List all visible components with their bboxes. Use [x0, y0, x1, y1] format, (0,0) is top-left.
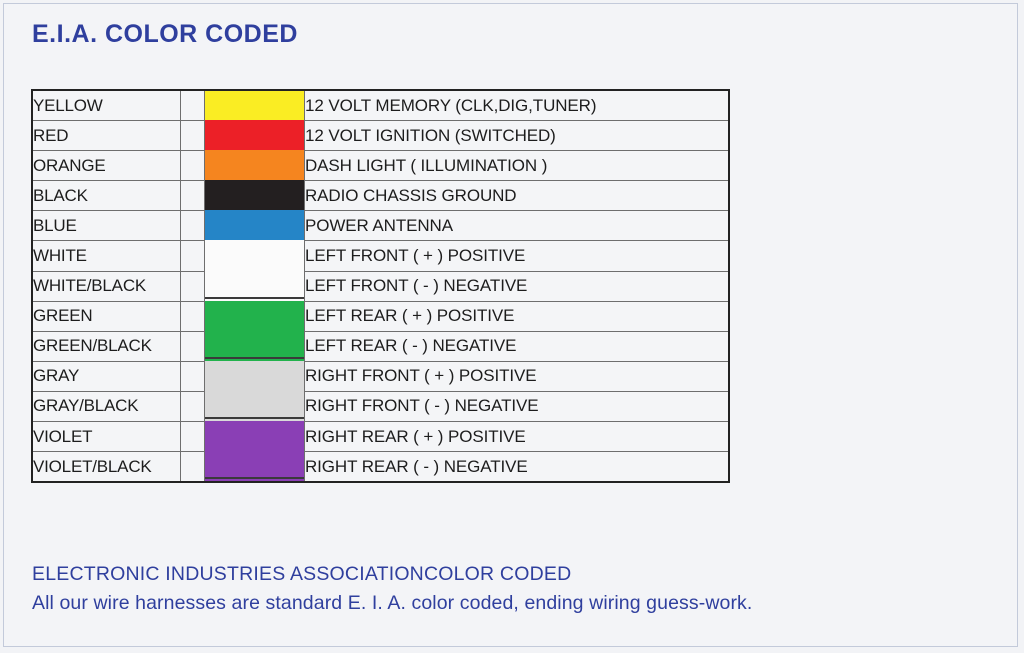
wire-color-name: VIOLET/BLACK	[33, 452, 181, 482]
wire-function-description: RIGHT FRONT ( - ) NEGATIVE	[305, 391, 730, 421]
spacer-cell	[181, 452, 205, 482]
wire-color-name: GREEN	[33, 301, 181, 331]
wire-function-description: RIGHT REAR ( + ) POSITIVE	[305, 422, 730, 452]
wire-color-swatch-cell	[205, 121, 305, 151]
table-row: RED12 VOLT IGNITION (SWITCHED)	[33, 121, 730, 151]
wire-color-swatch	[205, 120, 304, 151]
spacer-cell	[181, 391, 205, 421]
spacer-cell	[181, 331, 205, 361]
wire-color-name: GRAY/BLACK	[33, 391, 181, 421]
wire-color-name: BLACK	[33, 181, 181, 211]
wire-function-description: LEFT REAR ( - ) NEGATIVE	[305, 331, 730, 361]
spacer-cell	[181, 181, 205, 211]
table-row: WHITE/BLACKLEFT FRONT ( - ) NEGATIVE	[33, 271, 730, 301]
wire-color-swatch-cell	[205, 422, 305, 452]
wire-color-swatch	[205, 391, 304, 422]
wire-color-swatch	[205, 361, 304, 392]
wire-color-swatch-cell	[205, 271, 305, 301]
wire-color-swatch	[205, 180, 304, 211]
footer-line-2: All our wire harnesses are standard E. I…	[32, 589, 752, 618]
spacer-cell	[181, 241, 205, 271]
table-row: BLUEPOWER ANTENNA	[33, 211, 730, 241]
wire-function-description: RIGHT REAR ( - ) NEGATIVE	[305, 452, 730, 482]
table-row: VIOLET/BLACKRIGHT REAR ( - ) NEGATIVE	[33, 452, 730, 482]
wire-color-swatch	[205, 271, 304, 302]
table-row: GRAY/BLACKRIGHT FRONT ( - ) NEGATIVE	[33, 391, 730, 421]
wire-color-name: ORANGE	[33, 151, 181, 181]
wire-color-name: WHITE	[33, 241, 181, 271]
wire-function-description: LEFT REAR ( + ) POSITIVE	[305, 301, 730, 331]
wire-color-code-table-body: YELLOW12 VOLT MEMORY (CLK,DIG,TUNER)RED1…	[33, 91, 730, 482]
wire-function-description: RIGHT FRONT ( + ) POSITIVE	[305, 361, 730, 391]
spacer-cell	[181, 91, 205, 121]
wire-color-swatch	[205, 240, 304, 271]
wire-color-swatch	[205, 210, 304, 241]
wire-color-swatch	[205, 150, 304, 181]
wire-color-swatch	[205, 451, 304, 482]
wire-color-swatch-cell	[205, 241, 305, 271]
wire-function-description: LEFT FRONT ( + ) POSITIVE	[305, 241, 730, 271]
table-row: ORANGEDASH LIGHT ( ILLUMINATION )	[33, 151, 730, 181]
wire-function-description: DASH LIGHT ( ILLUMINATION )	[305, 151, 730, 181]
spacer-cell	[181, 151, 205, 181]
wire-function-description: 12 VOLT MEMORY (CLK,DIG,TUNER)	[305, 91, 730, 121]
table-row: GREEN/BLACKLEFT REAR ( - ) NEGATIVE	[33, 331, 730, 361]
table-row: GRAYRIGHT FRONT ( + ) POSITIVE	[33, 361, 730, 391]
black-tracer-stripe	[205, 297, 304, 299]
wire-color-swatch	[205, 331, 304, 362]
wire-color-swatch-cell	[205, 91, 305, 121]
wire-color-name: GRAY	[33, 361, 181, 391]
black-tracer-stripe	[205, 477, 304, 479]
wire-color-swatch	[205, 421, 304, 452]
wire-color-swatch-cell	[205, 151, 305, 181]
wire-color-swatch-cell	[205, 181, 305, 211]
wire-color-swatch-cell	[205, 452, 305, 482]
wire-color-name: BLUE	[33, 211, 181, 241]
wire-color-swatch-cell	[205, 211, 305, 241]
spacer-cell	[181, 121, 205, 151]
footer: ELECTRONIC INDUSTRIES ASSOCIATIONCOLOR C…	[32, 560, 752, 618]
black-tracer-stripe	[205, 357, 304, 359]
table-row: WHITELEFT FRONT ( + ) POSITIVE	[33, 241, 730, 271]
spacer-cell	[181, 361, 205, 391]
black-tracer-stripe	[205, 417, 304, 419]
footer-line-1: ELECTRONIC INDUSTRIES ASSOCIATIONCOLOR C…	[32, 560, 752, 589]
wire-color-swatch-cell	[205, 391, 305, 421]
wire-color-swatch-cell	[205, 301, 305, 331]
wire-function-description: 12 VOLT IGNITION (SWITCHED)	[305, 121, 730, 151]
wire-color-code-table: YELLOW12 VOLT MEMORY (CLK,DIG,TUNER)RED1…	[32, 90, 730, 482]
page-title: E.I.A. COLOR CODED	[32, 20, 298, 49]
wire-color-name: WHITE/BLACK	[33, 271, 181, 301]
table-row: BLACKRADIO CHASSIS GROUND	[33, 181, 730, 211]
spacer-cell	[181, 301, 205, 331]
wire-function-description: RADIO CHASSIS GROUND	[305, 181, 730, 211]
wire-function-description: POWER ANTENNA	[305, 211, 730, 241]
table-row: GREENLEFT REAR ( + ) POSITIVE	[33, 301, 730, 331]
wire-color-name: VIOLET	[33, 422, 181, 452]
table-row: VIOLETRIGHT REAR ( + ) POSITIVE	[33, 422, 730, 452]
page-frame: E.I.A. COLOR CODED YELLOW12 VOLT MEMORY …	[3, 3, 1018, 647]
wire-function-description: LEFT FRONT ( - ) NEGATIVE	[305, 271, 730, 301]
table-row: YELLOW12 VOLT MEMORY (CLK,DIG,TUNER)	[33, 91, 730, 121]
wire-color-swatch-cell	[205, 331, 305, 361]
wire-color-swatch	[205, 90, 304, 121]
wire-color-swatch-cell	[205, 361, 305, 391]
spacer-cell	[181, 211, 205, 241]
wire-color-swatch	[205, 301, 304, 332]
wire-color-name: GREEN/BLACK	[33, 331, 181, 361]
wire-color-name: YELLOW	[33, 91, 181, 121]
spacer-cell	[181, 422, 205, 452]
spacer-cell	[181, 271, 205, 301]
wire-color-name: RED	[33, 121, 181, 151]
